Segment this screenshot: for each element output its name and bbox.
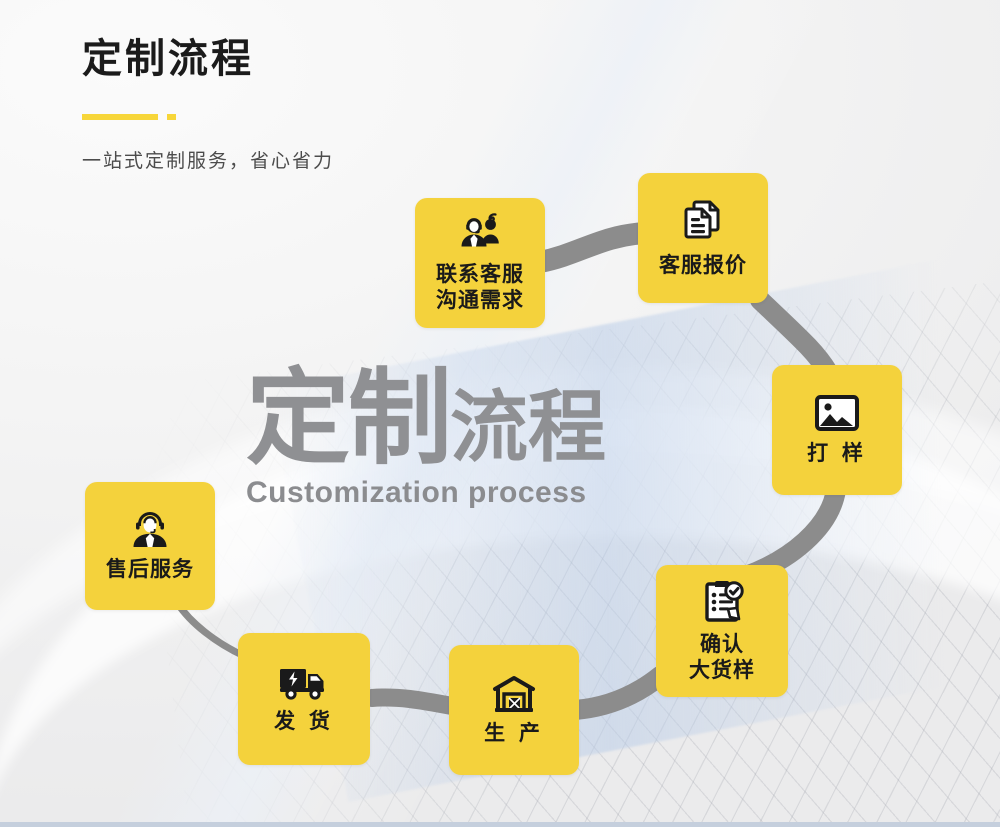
delivery-truck-icon (278, 663, 330, 701)
page-title: 定制流程 (82, 36, 334, 82)
bottom-accent-bar (0, 822, 1000, 827)
headset-support-icon (129, 509, 171, 549)
step-label: 生 产 (484, 721, 544, 747)
step-card-quotation[interactable]: 客服报价 (638, 173, 768, 303)
customization-process-banner: 定制流程 一站式定制服务，省心省力 定制流程 Customization pro… (0, 0, 1000, 827)
step-card-contact-service[interactable]: 联系客服 沟通需求 (415, 198, 545, 328)
step-card-production[interactable]: 生 产 (449, 645, 579, 775)
step-card-confirm-bulk-sample[interactable]: 确认 大货样 (656, 565, 788, 697)
header: 定制流程 一站式定制服务，省心省力 (82, 36, 334, 173)
accent-square (167, 114, 176, 120)
customer-service-pair-icon (454, 212, 506, 254)
image-sample-icon (814, 393, 860, 433)
accent-bar (82, 114, 158, 120)
step-label: 发 货 (274, 709, 334, 735)
step-label: 客服报价 (659, 253, 747, 279)
step-card-shipping[interactable]: 发 货 (238, 633, 370, 765)
factory-warehouse-icon (491, 673, 537, 713)
title-accent-rule (82, 112, 334, 122)
document-quote-icon (679, 197, 727, 245)
step-card-sampling[interactable]: 打 样 (772, 365, 902, 495)
step-card-after-sales[interactable]: 售后服务 (85, 482, 215, 610)
step-label: 确认 大货样 (689, 632, 755, 685)
step-label: 联系客服 沟通需求 (436, 262, 524, 315)
page-subtitle: 一站式定制服务，省心省力 (82, 146, 334, 173)
step-label: 售后服务 (106, 557, 194, 583)
step-label: 打 样 (807, 441, 867, 467)
clipboard-check-icon (700, 578, 744, 624)
